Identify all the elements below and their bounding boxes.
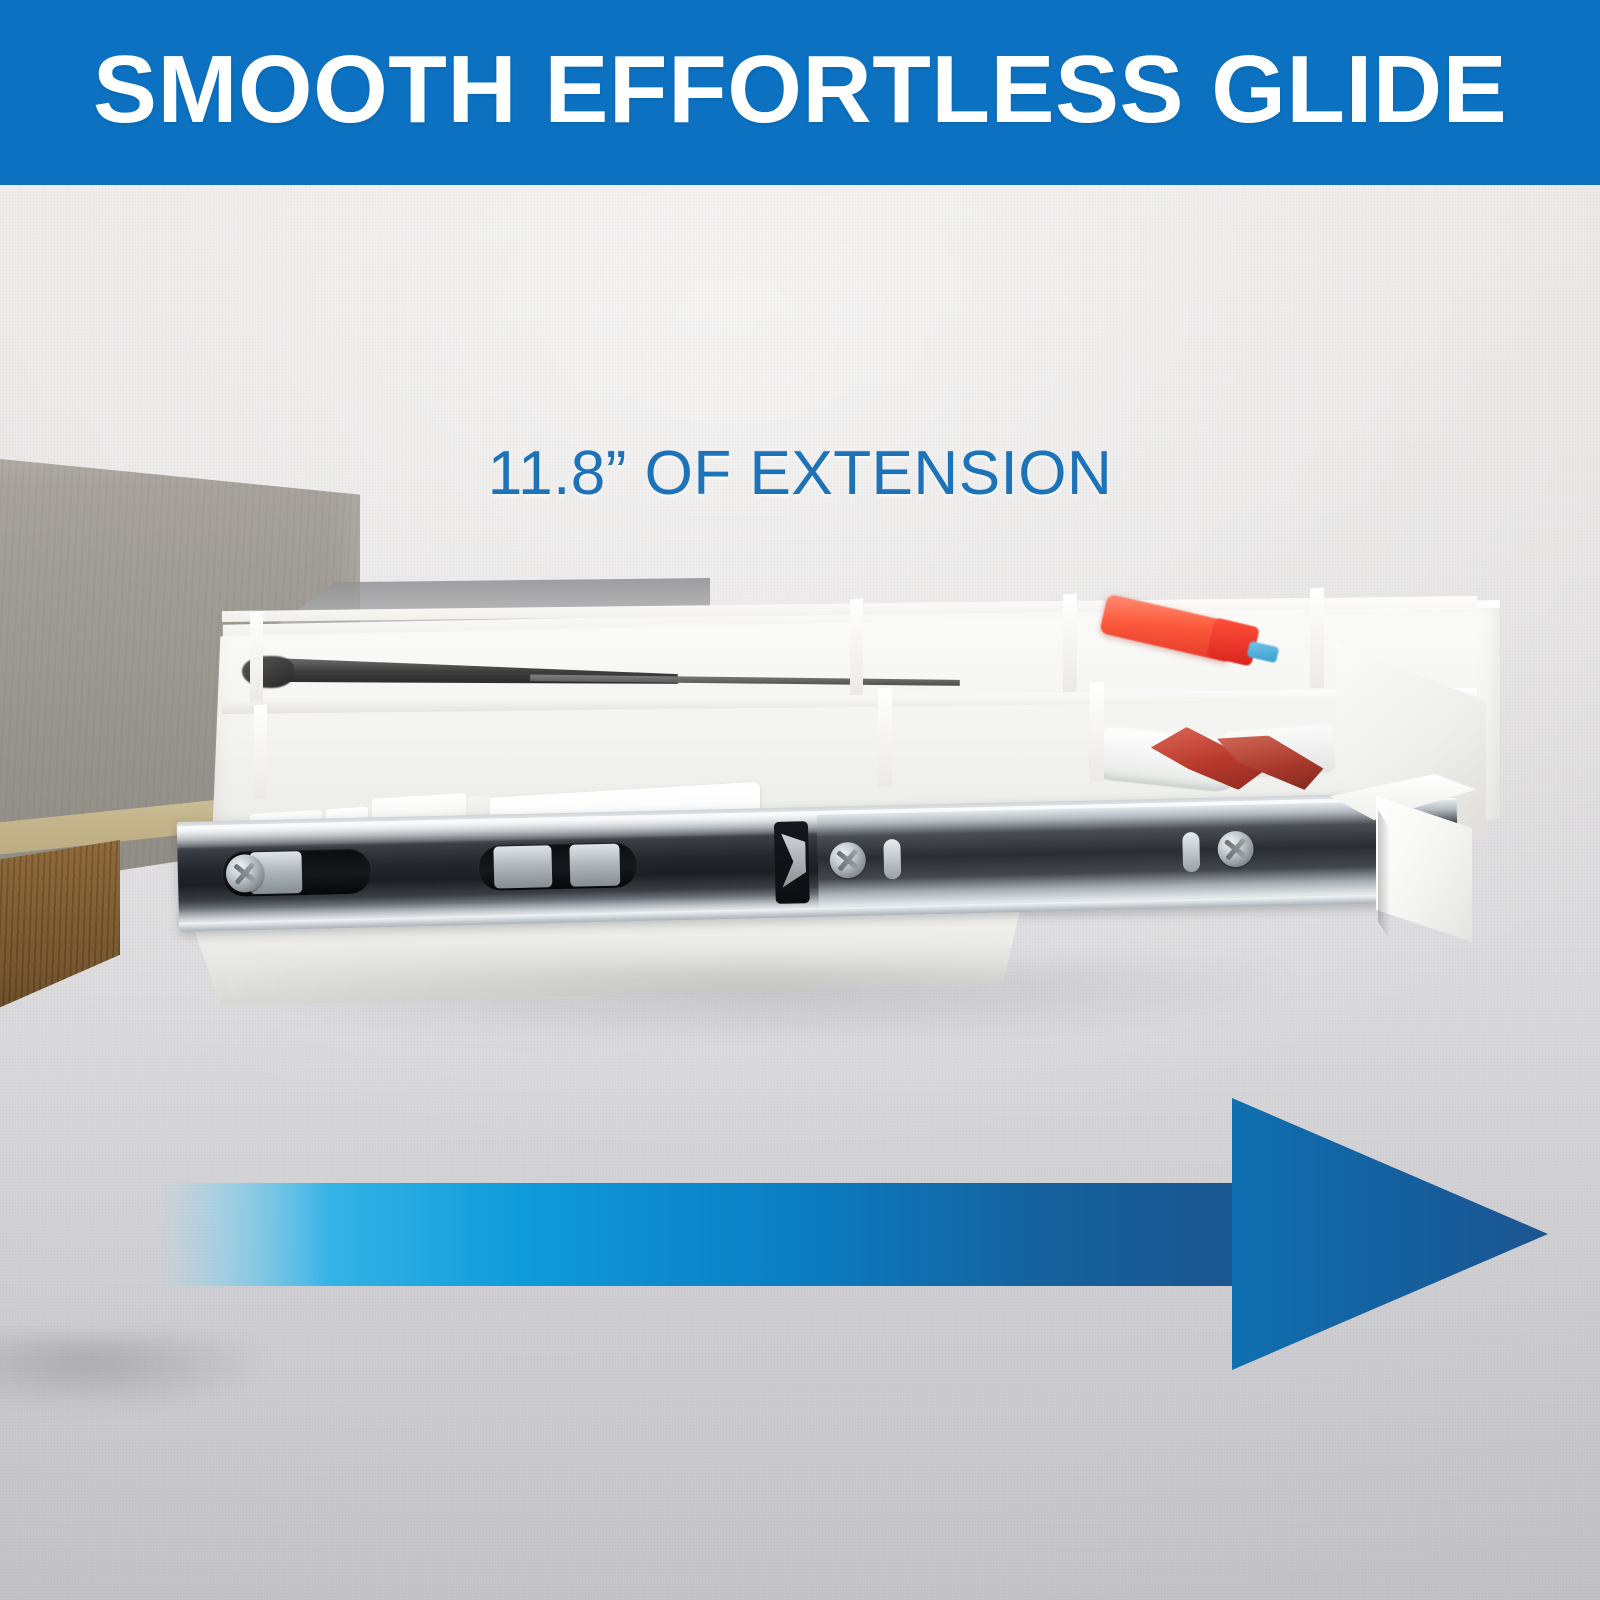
arrow-head [1232,1098,1548,1370]
tray-divider-lower-2 [878,687,892,786]
tray-divider-upper-3 [1063,593,1077,692]
promo-image-stage: SMOOTH EFFORTLESS GLIDE 11.8” OF EXTENSI… [0,0,1600,1600]
arrow-shaft [155,1183,1245,1286]
tray-divider-lower-3 [1090,681,1104,782]
header-banner: SMOOTH EFFORTLESS GLIDE [0,0,1600,185]
drawer-front-inner-shadow [1378,810,1390,940]
rail-inner-member [817,800,1459,907]
tray-divider-lower-1 [254,705,267,800]
tray-divider-upper-1 [250,612,263,705]
rail-bearing-block-3 [569,844,620,887]
direction-arrow [0,1050,1600,1410]
rail-bearing-block-2 [493,845,552,888]
rail-stop-pin-1 [883,839,901,879]
assembly-contact-shadow [120,960,1450,1040]
banner-title: SMOOTH EFFORTLESS GLIDE [0,0,1600,185]
tray-divider-upper-4 [1310,587,1324,688]
tray-divider-upper-2 [850,599,863,696]
desk-edge-grain [0,840,120,1025]
rail-stop-pin-2 [1182,832,1200,872]
direction-arrow-svg [0,1050,1600,1410]
